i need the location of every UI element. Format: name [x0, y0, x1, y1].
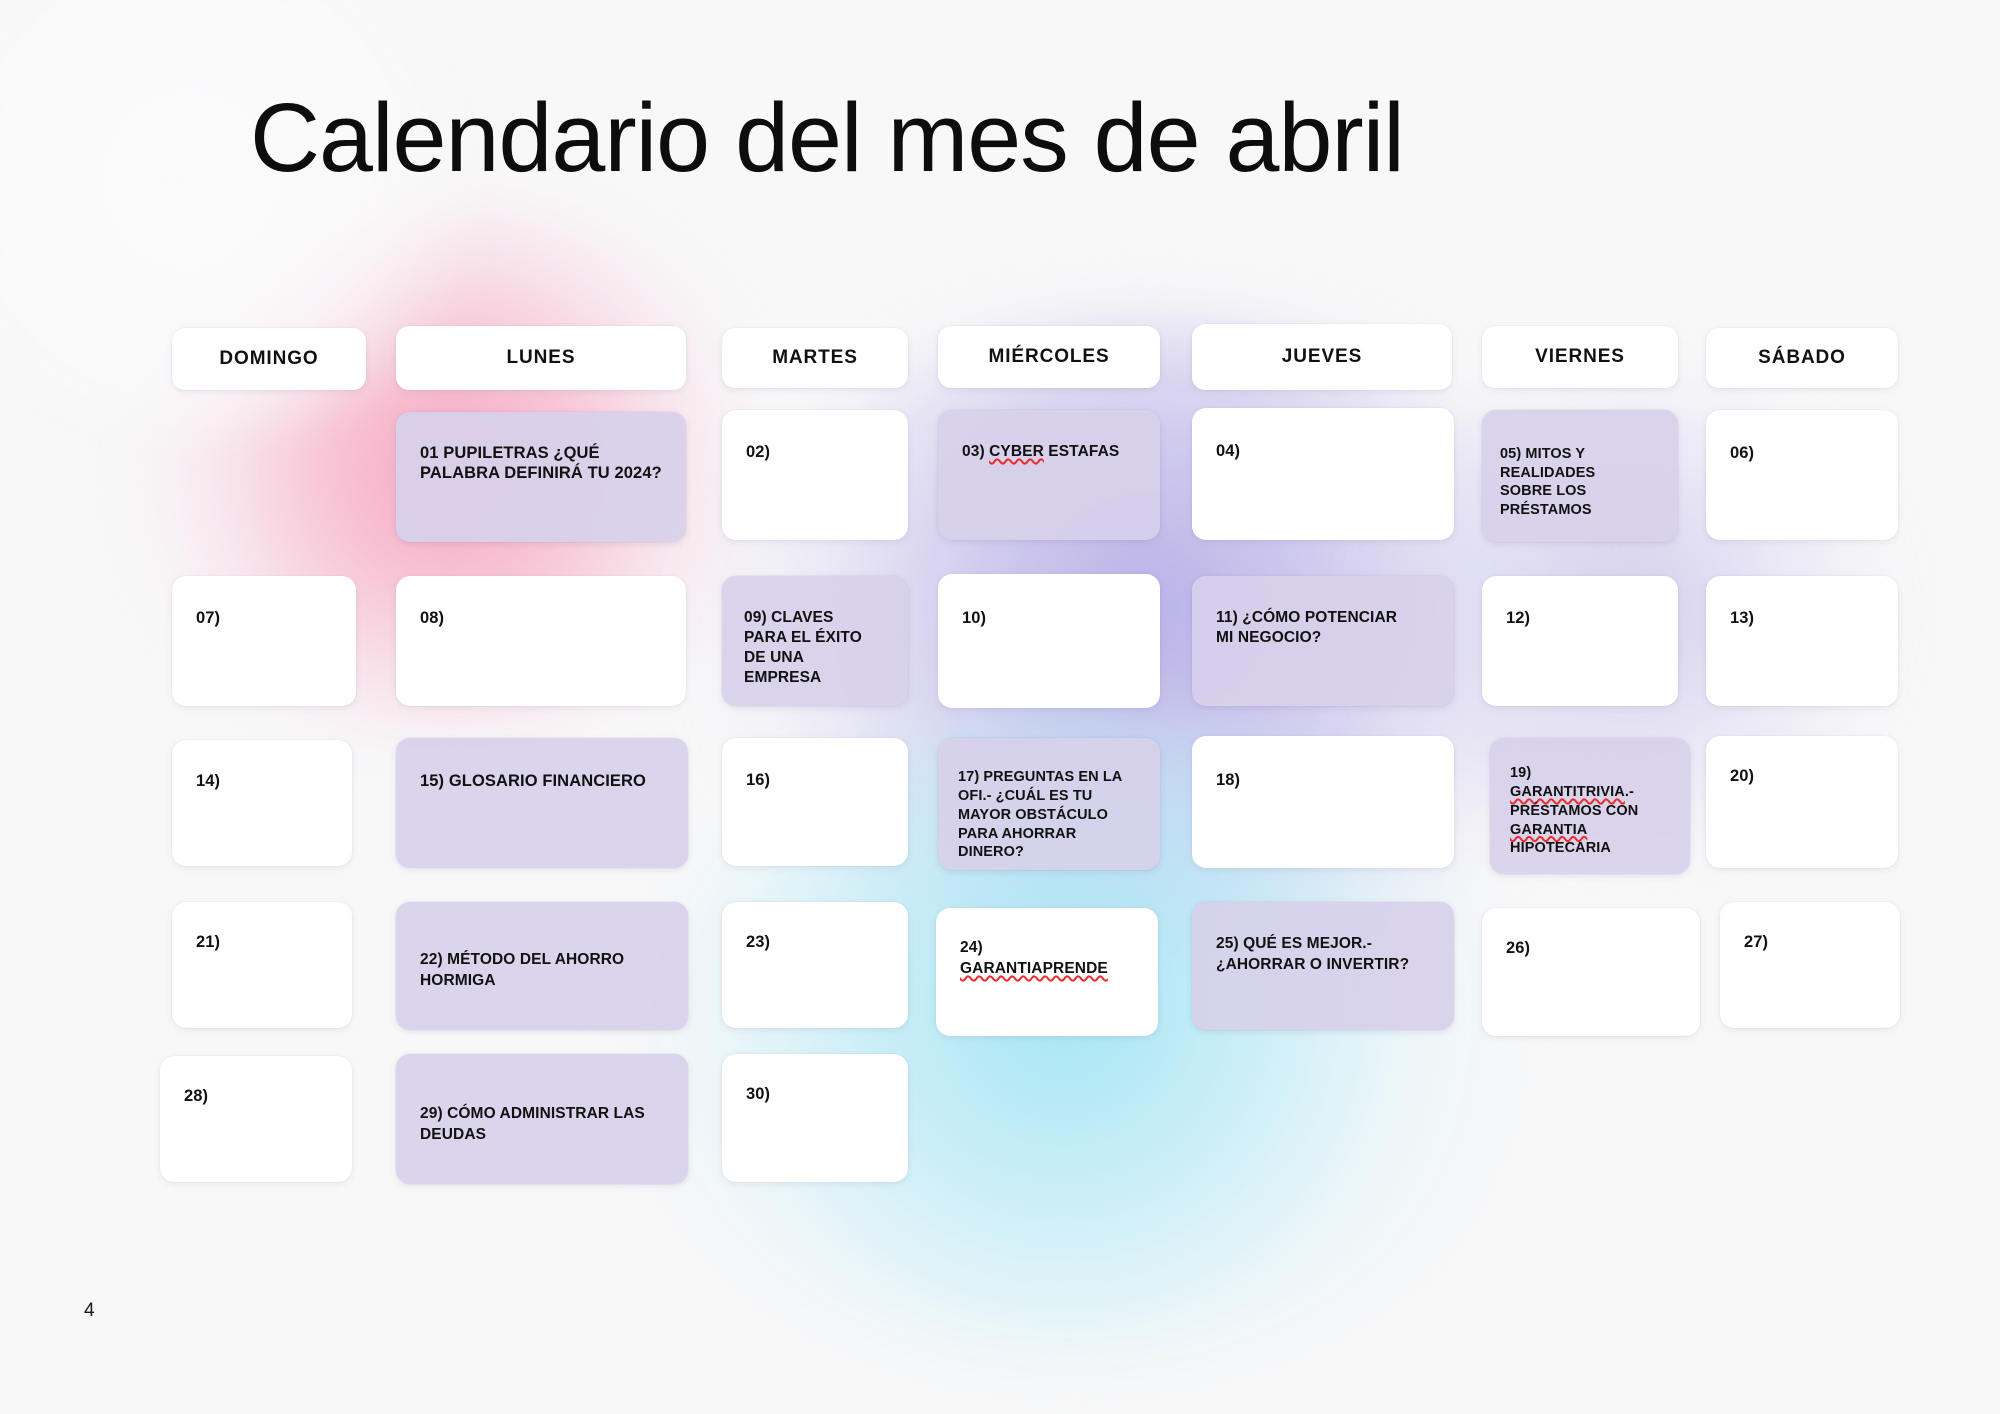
calendar-cell-text: 19)GARANTITRIVIA.-PRÉSTAMOS CONGARANTIAH…	[1510, 764, 1676, 858]
calendar-cell-29[interactable]: 29) CÓMO ADMINISTRAR LASDEUDAS	[396, 1054, 688, 1184]
calendar-cell-text: 06)	[1730, 443, 1884, 463]
day-header-label: DOMINGO	[219, 348, 318, 370]
calendar-cell-09[interactable]: 09) CLAVESPARA EL ÉXITODE UNAEMPRESA	[722, 576, 908, 706]
calendar-cell-05[interactable]: 05) MITOS YREALIDADESSOBRE LOSPRÉSTAMOS	[1482, 410, 1678, 542]
day-header-label: VIERNES	[1535, 346, 1625, 368]
page-number: 4	[84, 1300, 95, 1322]
calendar-cell-30[interactable]: 30)	[722, 1054, 908, 1182]
day-header-label: LUNES	[507, 347, 576, 369]
calendar-cell-text: 18)	[1216, 770, 1440, 790]
day-header-label: MARTES	[772, 347, 858, 369]
calendar-cell-text: 04)	[1216, 441, 1440, 461]
calendar-cell-13[interactable]: 13)	[1706, 576, 1898, 706]
calendar-cell-text: 26)	[1506, 938, 1686, 958]
calendar-cell-text: 23)	[746, 932, 894, 952]
calendar-cell-14[interactable]: 14)	[172, 740, 352, 866]
day-header-domingo: DOMINGO	[172, 328, 366, 390]
calendar-cell-12[interactable]: 12)	[1482, 576, 1678, 706]
calendar-cell-text: 07)	[196, 608, 342, 628]
day-header-sabado: SÁBADO	[1706, 328, 1898, 388]
calendar-cell-10[interactable]: 10)	[938, 574, 1160, 708]
calendar-cell-22[interactable]: 22) MÉTODO DEL AHORROHORMIGA	[396, 902, 688, 1030]
calendar-cell-text: 05) MITOS YREALIDADESSOBRE LOSPRÉSTAMOS	[1500, 445, 1664, 519]
calendar-cell-08[interactable]: 08)	[396, 576, 686, 706]
calendar-cell-text: 01 PUPILETRAS ¿QUÉ PALABRA DEFINIRÁ TU 2…	[420, 443, 672, 483]
calendar-cell-text: 17) PREGUNTAS EN LAOFI.- ¿CUÁL ES TUMAYO…	[958, 768, 1146, 862]
day-header-label: SÁBADO	[1758, 347, 1846, 369]
calendar-cell-text: 27)	[1744, 932, 1886, 952]
day-header-label: JUEVES	[1282, 346, 1362, 368]
calendar-cell-27[interactable]: 27)	[1720, 902, 1900, 1028]
calendar-cell-text: 13)	[1730, 608, 1884, 628]
calendar-cell-21[interactable]: 21)	[172, 902, 352, 1028]
calendar-cell-18[interactable]: 18)	[1192, 736, 1454, 868]
calendar-cell-text: 09) CLAVESPARA EL ÉXITODE UNAEMPRESA	[744, 608, 894, 689]
calendar-cell-text: 08)	[420, 608, 672, 628]
day-header-miercoles: MIÉRCOLES	[938, 326, 1160, 388]
calendar-cell-26[interactable]: 26)	[1482, 908, 1700, 1036]
day-header-viernes: VIERNES	[1482, 326, 1678, 388]
calendar-cell-24[interactable]: 24)GARANTIAPRENDE	[936, 908, 1158, 1036]
calendar-cell-text: 10)	[962, 608, 1146, 628]
calendar-cell-01[interactable]: 01 PUPILETRAS ¿QUÉ PALABRA DEFINIRÁ TU 2…	[396, 412, 686, 542]
calendar-grid: DOMINGO LUNES MARTES MIÉRCOLES JUEVES VI…	[0, 0, 2000, 1414]
calendar-cell-text: 29) CÓMO ADMINISTRAR LASDEUDAS	[420, 1104, 674, 1146]
calendar-cell-text: 16)	[746, 770, 894, 790]
calendar-cell-23[interactable]: 23)	[722, 902, 908, 1028]
calendar-cell-text: 11) ¿CÓMO POTENCIARMI NEGOCIO?	[1216, 608, 1440, 648]
calendar-cell-03[interactable]: 03) CYBER ESTAFAS	[938, 410, 1160, 540]
calendar-cell-text: 25) QUÉ ES MEJOR.-¿AHORRAR O INVERTIR?	[1216, 934, 1440, 976]
calendar-cell-text: 12)	[1506, 608, 1664, 628]
calendar-cell-text: 02)	[746, 442, 894, 462]
calendar-cell-text: 28)	[184, 1086, 338, 1106]
day-header-lunes: LUNES	[396, 326, 686, 390]
calendar-cell-text: 30)	[746, 1084, 894, 1104]
calendar-cell-02[interactable]: 02)	[722, 410, 908, 540]
calendar-cell-text: 21)	[196, 932, 338, 952]
calendar-cell-04[interactable]: 04)	[1192, 408, 1454, 540]
calendar-cell-text: 22) MÉTODO DEL AHORROHORMIGA	[420, 950, 674, 992]
calendar-cell-11[interactable]: 11) ¿CÓMO POTENCIARMI NEGOCIO?	[1192, 576, 1454, 706]
calendar-cell-06[interactable]: 06)	[1706, 410, 1898, 540]
calendar-cell-19[interactable]: 19)GARANTITRIVIA.-PRÉSTAMOS CONGARANTIAH…	[1490, 738, 1690, 874]
calendar-cell-text: 24)GARANTIAPRENDE	[960, 938, 1144, 980]
calendar-cell-15[interactable]: 15) GLOSARIO FINANCIERO	[396, 738, 688, 868]
calendar-cell-20[interactable]: 20)	[1706, 736, 1898, 868]
calendar-cell-text: 14)	[196, 771, 338, 791]
day-header-jueves: JUEVES	[1192, 324, 1452, 390]
calendar-cell-text: 03) CYBER ESTAFAS	[962, 443, 1146, 462]
day-header-label: MIÉRCOLES	[988, 346, 1109, 368]
calendar-cell-28[interactable]: 28)	[160, 1056, 352, 1182]
calendar-cell-07[interactable]: 07)	[172, 576, 356, 706]
calendar-cell-text: 15) GLOSARIO FINANCIERO	[420, 771, 674, 791]
day-header-martes: MARTES	[722, 328, 908, 388]
calendar-cell-16[interactable]: 16)	[722, 738, 908, 866]
calendar-cell-17[interactable]: 17) PREGUNTAS EN LAOFI.- ¿CUÁL ES TUMAYO…	[938, 738, 1160, 870]
calendar-cell-text: 20)	[1730, 766, 1884, 786]
calendar-cell-25[interactable]: 25) QUÉ ES MEJOR.-¿AHORRAR O INVERTIR?	[1192, 902, 1454, 1030]
